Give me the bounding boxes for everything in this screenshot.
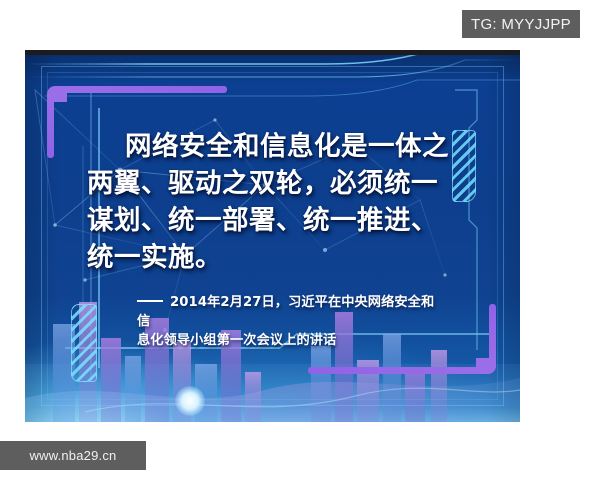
site-watermark-label: www.nba29.cn	[30, 448, 117, 463]
telegram-handle-label: TG: MYYJJPP	[471, 16, 571, 33]
site-watermark-badge: www.nba29.cn	[0, 441, 146, 470]
poster-attribution: 2014年2月27日，习近平在中央网络安全和信 息化领导小组第一次会议上的讲话	[137, 293, 445, 350]
telegram-handle-badge: TG: MYYJJPP	[462, 10, 580, 38]
poster-top-strip	[25, 50, 520, 55]
glow-dot	[175, 386, 205, 416]
attribution-line-1: 2014年2月27日，习近平在中央网络安全和信	[137, 295, 434, 329]
attribution-dash	[137, 300, 163, 302]
poster-image: 网络安全和信息化是一体之两翼、驱动之双轮，必须统一谋划、统一部署、统一推进、统一…	[25, 50, 520, 422]
stripe-block-left	[71, 304, 97, 382]
attribution-line-2: 息化领导小组第一次会议上的讲话	[137, 333, 336, 348]
poster-quote-text: 网络安全和信息化是一体之两翼、驱动之双轮，必须统一谋划、统一部署、统一推进、统一…	[87, 128, 459, 276]
